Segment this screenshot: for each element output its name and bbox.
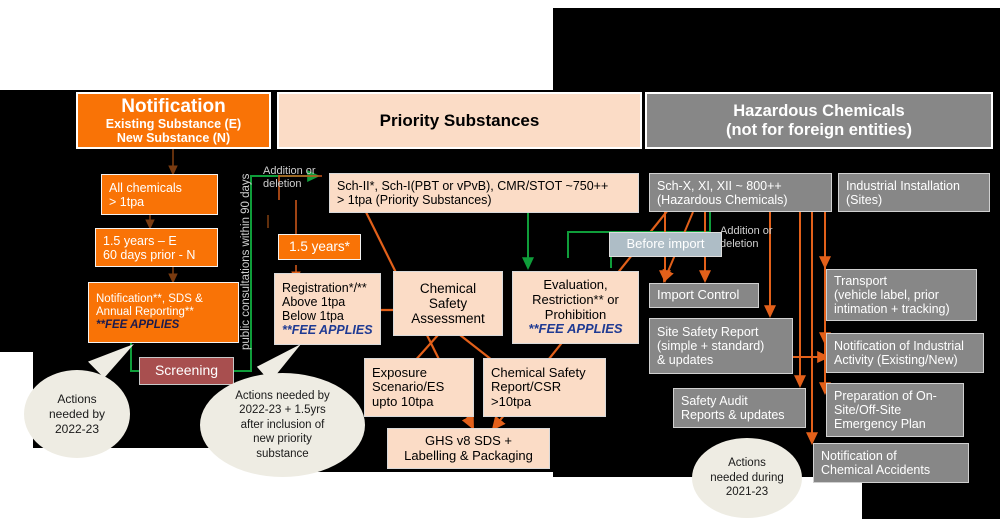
callout2-line1: Actions needed by (235, 389, 330, 403)
safety-audit-line1: Safety Audit (681, 394, 798, 408)
box-screening: Screening (139, 357, 234, 385)
addition-left-line1: Addition or (263, 165, 335, 178)
safety-audit-line2: Reports & updates (681, 408, 798, 422)
csa-line3: Assessment (411, 311, 485, 326)
callout-actions-2022-23: Actions needed by 2022-23 (24, 370, 130, 458)
notification-sds-fee: **FEE APPLIES (96, 319, 231, 332)
box-priority-substances-scope: Sch-II*, Sch-I(PBT or vPvB), CMR/STOT ~7… (329, 173, 639, 213)
callout-actions-2022-23-plus: Actions needed by 2022-23 + 1.5yrs after… (200, 373, 365, 477)
box-chemical-accidents: Notification of Chemical Accidents (813, 443, 969, 483)
csa-line1: Chemical (420, 281, 476, 296)
box-1-5-years: 1.5 years* (278, 234, 361, 260)
industrial-installation-line1: Industrial Installation (846, 179, 982, 193)
evaluation-fee: **FEE APPLIES (528, 322, 622, 337)
addition-left-line2: deletion (263, 178, 335, 191)
header-notification-line3: New Substance (N) (117, 131, 230, 145)
csa-line2: Safety (429, 296, 467, 311)
label-addition-deletion-left: Addition or deletion (263, 165, 335, 190)
notification-sds-line1: Notification**, SDS & (96, 293, 231, 306)
callout3-line1: Actions (728, 456, 766, 470)
emergency-plan-line1: Preparation of On- (834, 389, 956, 403)
timeline-line2: 60 days prior - N (103, 248, 210, 262)
transport-line3: intimation + tracking) (834, 302, 969, 316)
callout1-line2: needed by (49, 407, 105, 422)
haz-scope-line1: Sch-X, XI, XII ~ 800++ (657, 179, 824, 193)
label-addition-deletion-right: Addition or deletion (720, 225, 792, 250)
box-timeline: 1.5 years – E 60 days prior - N (95, 228, 218, 267)
registration-line3: Below 1tpa (282, 309, 373, 323)
site-safety-line2: (simple + standard) (657, 339, 785, 353)
years-label: 1.5 years* (289, 239, 350, 254)
addition-right-line2: deletion (720, 238, 792, 251)
box-industrial-installation: Industrial Installation (Sites) (838, 173, 990, 212)
box-notification-sds: Notification**, SDS & Annual Reporting**… (88, 282, 239, 343)
registration-fee: **FEE APPLIES (282, 323, 373, 337)
ghs-line1: GHS v8 SDS + (425, 434, 512, 449)
all-chemicals-line1: All chemicals (109, 181, 210, 195)
diagram-canvas: Notification Existing Substance (E) New … (0, 0, 1000, 527)
background-panel-top-right (553, 8, 1000, 90)
callout3-line2: needed during (710, 471, 784, 485)
notification-sds-line2: Annual Reporting** (96, 306, 231, 319)
chem-accidents-line1: Notification of (821, 449, 961, 463)
site-safety-line3: & updates (657, 353, 785, 367)
box-before-import: Before import (609, 232, 722, 257)
callout1-line1: Actions (57, 392, 96, 407)
industrial-installation-line2: (Sites) (846, 193, 982, 207)
callout-actions-2021-23: Actions needed during 2021-23 (692, 438, 802, 518)
before-import-label: Before import (626, 237, 704, 252)
site-safety-line1: Site Safety Report (657, 325, 785, 339)
box-notification-industrial-activity: Notification of Industrial Activity (Exi… (826, 333, 984, 373)
csr-line3: >10tpa (491, 395, 598, 410)
header-hazardous-line1: Hazardous Chemicals (733, 102, 904, 120)
header-priority-line1: Priority Substances (380, 111, 540, 130)
callout2-line4: new priority (253, 432, 312, 446)
vertical-public-consultations-label: public consultations within 90 days (240, 185, 252, 350)
haz-scope-line2: (Hazardous Chemicals) (657, 193, 824, 207)
exposure-line1: Exposure (372, 366, 466, 381)
csr-line1: Chemical Safety (491, 366, 598, 381)
evaluation-line3: Prohibition (545, 308, 606, 323)
timeline-line1: 1.5 years – E (103, 234, 210, 248)
box-safety-audit: Safety Audit Reports & updates (673, 388, 806, 428)
callout2-line3: after inclusion of (241, 418, 325, 432)
header-priority-substances: Priority Substances (277, 92, 642, 149)
box-exposure-scenario: Exposure Scenario/ES upto 10tpa (364, 358, 474, 417)
import-control-label: Import Control (657, 288, 751, 303)
emergency-plan-line2: Site/Off-Site (834, 403, 956, 417)
header-notification-line2: Existing Substance (E) (106, 117, 241, 131)
header-hazardous-chemicals: Hazardous Chemicals (not for foreign ent… (645, 92, 993, 149)
transport-line1: Transport (834, 274, 969, 288)
box-evaluation-restriction: Evaluation, Restriction** or Prohibition… (512, 271, 639, 344)
screening-label: Screening (155, 363, 218, 379)
chem-accidents-line2: Chemical Accidents (821, 463, 961, 477)
header-notification-line1: Notification (121, 96, 226, 117)
evaluation-line2: Restriction** or (532, 293, 619, 308)
header-hazardous-line2: (not for foreign entities) (726, 121, 912, 139)
registration-line1: Registration*/** (282, 281, 373, 295)
evaluation-line1: Evaluation, (543, 278, 607, 293)
box-chemical-safety-assessment: Chemical Safety Assessment (393, 271, 503, 336)
emergency-plan-line3: Emergency Plan (834, 417, 956, 431)
box-transport: Transport (vehicle label, prior intimati… (826, 269, 977, 321)
priority-scope-line1: Sch-II*, Sch-I(PBT or vPvB), CMR/STOT ~7… (337, 179, 631, 193)
box-registration: Registration*/** Above 1tpa Below 1tpa *… (274, 273, 381, 345)
all-chemicals-line2: > 1tpa (109, 195, 210, 209)
header-notification: Notification Existing Substance (E) New … (76, 92, 271, 149)
registration-line2: Above 1tpa (282, 295, 373, 309)
csr-line2: Report/CSR (491, 380, 598, 395)
priority-scope-line2: > 1tpa (Priority Substances) (337, 193, 631, 207)
box-import-control: Import Control (649, 283, 759, 308)
exposure-line3: upto 10tpa (372, 395, 466, 410)
notif-industrial-line1: Notification of Industrial (834, 339, 976, 353)
box-emergency-plan: Preparation of On- Site/Off-Site Emergen… (826, 383, 964, 437)
transport-line2: (vehicle label, prior (834, 288, 969, 302)
box-ghs-sds: GHS v8 SDS + Labelling & Packaging (387, 428, 550, 469)
box-all-chemicals: All chemicals > 1tpa (101, 174, 218, 215)
addition-right-line1: Addition or (720, 225, 792, 238)
callout1-line3: 2022-23 (55, 422, 99, 437)
exposure-line2: Scenario/ES (372, 380, 466, 395)
callout2-line5: substance (256, 447, 308, 461)
callout2-line2: 2022-23 + 1.5yrs (239, 403, 326, 417)
box-chemical-safety-report: Chemical Safety Report/CSR >10tpa (483, 358, 606, 417)
box-site-safety-report: Site Safety Report (simple + standard) &… (649, 318, 793, 374)
notif-industrial-line2: Activity (Existing/New) (834, 353, 976, 367)
ghs-line2: Labelling & Packaging (404, 449, 533, 464)
callout3-line3: 2021-23 (726, 485, 768, 499)
box-hazardous-chemicals-scope: Sch-X, XI, XII ~ 800++ (Hazardous Chemic… (649, 173, 832, 212)
